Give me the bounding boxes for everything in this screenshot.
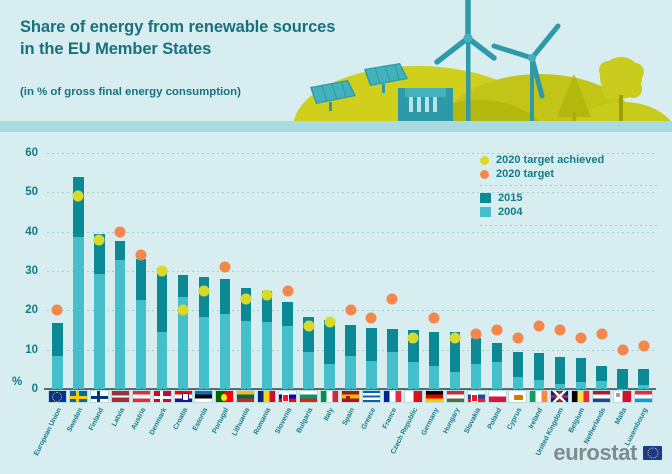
target-dot[interactable] (492, 325, 503, 336)
y-tick-label: 30 (25, 265, 38, 277)
country-label: Italy (323, 407, 335, 422)
y-tick-label: 20 (25, 304, 38, 316)
bar-group[interactable] (471, 338, 481, 389)
target-achieved-dot[interactable] (94, 234, 105, 245)
legend-target-dot-icon (480, 170, 489, 179)
x-axis-item[interactable]: Slovenia (278, 390, 297, 403)
bar-2004 (157, 332, 167, 389)
target-dot[interactable] (512, 332, 523, 343)
legend-item-target: 2020 target (480, 168, 660, 180)
target-dot[interactable] (575, 332, 586, 343)
bar-2004 (324, 364, 334, 389)
bar-2015 (617, 369, 627, 389)
bar-group[interactable] (387, 329, 397, 389)
target-achieved-dot[interactable] (408, 332, 419, 343)
legend-2004-label: 2004 (498, 206, 522, 218)
x-axis-item[interactable]: Germany (425, 390, 444, 403)
x-axis-item[interactable]: Belgium (571, 390, 590, 403)
eu-flag-icon (643, 446, 662, 460)
bar-2004 (450, 372, 460, 389)
bar-2004 (492, 362, 502, 389)
flag-icon-at (132, 390, 151, 403)
bar-group[interactable] (492, 343, 502, 389)
country-label: Poland (486, 407, 503, 430)
country-label: Latvia (111, 407, 126, 428)
bar-2004 (387, 352, 397, 389)
bar-group[interactable] (534, 353, 544, 389)
flag-icon-ee (194, 390, 213, 403)
flag-icon-es (341, 390, 360, 403)
chart-legend: 2020 target achieved 2020 target 2015 20… (480, 154, 660, 226)
bar-2004 (220, 314, 230, 390)
x-axis-item[interactable]: Estonia (194, 390, 213, 403)
hydroelectric-dam-icon (398, 88, 453, 121)
bar-group[interactable] (262, 291, 272, 389)
legend-item-target-achieved: 2020 target achieved (480, 154, 660, 166)
legend-item-2015: 2015 (480, 192, 660, 204)
target-dot[interactable] (429, 313, 440, 324)
country-label: Finland (88, 407, 105, 432)
country-label: Lithuania (232, 407, 252, 437)
country-label: Austria (130, 407, 147, 431)
x-axis-item[interactable]: Poland (488, 390, 507, 403)
bar-2004 (262, 322, 272, 389)
flag-icon-ro (257, 390, 276, 403)
flag-icon-hr (174, 390, 193, 403)
flag-icon-lv (111, 390, 130, 403)
header-divider-band (0, 121, 672, 132)
flag-icon-pl (488, 390, 507, 403)
flag-icon-si (278, 390, 297, 403)
flag-icon-pt (215, 390, 234, 403)
country-label: Slovenia (274, 407, 293, 435)
bar-2004 (115, 260, 125, 389)
bar-group[interactable] (282, 302, 292, 389)
flag-icon-hu (446, 390, 465, 403)
legend-divider (480, 185, 660, 186)
union-jack-overlay (551, 391, 568, 402)
target-dot[interactable] (617, 344, 628, 355)
x-axis-item[interactable]: Czech Republic (404, 390, 423, 403)
flag-cross (154, 396, 171, 399)
coat-of-arms (282, 394, 289, 402)
croatia-emblem (182, 393, 189, 401)
bar-group[interactable] (115, 241, 125, 389)
target-achieved-dot[interactable] (240, 293, 251, 304)
infographic-page: Share of energy from renewable sources i… (0, 0, 672, 474)
flag-icon-mt (613, 390, 632, 403)
eu-stars (52, 392, 62, 402)
bar-2004 (282, 326, 292, 389)
country-label: France (382, 407, 398, 430)
page-title: Share of energy from renewable sources i… (20, 17, 350, 61)
flag-icon-bg (299, 390, 318, 403)
x-axis-item[interactable]: Hungary (446, 390, 465, 403)
bar-group[interactable] (324, 320, 334, 389)
country-label: Slovakia (463, 407, 482, 435)
y-axis-labels: 0102030405060 (0, 132, 47, 394)
x-axis-item[interactable]: Austria (132, 390, 151, 403)
bar-2004 (136, 300, 146, 389)
target-dot[interactable] (533, 321, 544, 332)
target-achieved-dot[interactable] (303, 321, 314, 332)
page-subtitle: (in % of gross final energy consumption) (20, 86, 350, 98)
legend-2015-label: 2015 (498, 192, 522, 204)
bar-2004 (73, 237, 83, 389)
bar-2004 (408, 362, 418, 389)
x-axis-item[interactable]: Luxembourg (634, 390, 653, 403)
malta-cross (616, 393, 620, 397)
legend-2015-swatch-icon (480, 193, 491, 203)
x-axis-item[interactable]: Italy (320, 390, 339, 403)
legend-divider-bottom (480, 225, 660, 226)
bar-2004 (366, 361, 376, 389)
x-axis-item[interactable]: European Union (48, 390, 67, 403)
x-axis-item[interactable]: Slovakia (467, 390, 486, 403)
flag-icon-be (571, 390, 590, 403)
x-axis-item[interactable]: Malta (613, 390, 632, 403)
bar-group[interactable] (345, 325, 355, 389)
target-dot[interactable] (345, 305, 356, 316)
bar-group[interactable] (52, 323, 62, 389)
target-achieved-dot[interactable] (450, 332, 461, 343)
x-axis-item[interactable]: France (383, 390, 402, 403)
bar-group[interactable] (157, 268, 167, 389)
flag-icon-lu (634, 390, 653, 403)
bar-group[interactable] (576, 358, 586, 389)
legend-achieved-label: 2020 target achieved (496, 154, 604, 166)
x-axis-item[interactable]: Croatia (174, 390, 193, 403)
country-label: Ireland (528, 407, 544, 430)
target-achieved-dot[interactable] (178, 305, 189, 316)
legend-achieved-dot-icon (480, 156, 489, 165)
flag-icon-nl (592, 390, 611, 403)
flag-icon-ie (529, 390, 548, 403)
flag-icon-sk (467, 390, 486, 403)
bar-group[interactable] (94, 234, 104, 389)
flag-icon-dk (153, 390, 172, 403)
flag-icon-lt (236, 390, 255, 403)
target-dot[interactable] (115, 226, 126, 237)
flag-icon-se (69, 390, 88, 403)
target-dot[interactable] (136, 250, 147, 261)
bar-2004 (241, 321, 251, 389)
title-line-2: in the EU Member States (20, 39, 350, 61)
country-label: Sweden (66, 407, 84, 433)
x-axis-item[interactable]: Denmark (153, 390, 172, 403)
country-label: Cyprus (507, 407, 524, 431)
flag-icon-it (320, 390, 339, 403)
y-tick-label: 0 (32, 383, 38, 395)
bar-2004 (52, 356, 62, 389)
target-dot[interactable] (471, 328, 482, 339)
flag-cross (91, 396, 108, 399)
target-achieved-dot[interactable] (157, 266, 168, 277)
cyprus-map (514, 395, 523, 400)
bar-group[interactable] (555, 357, 565, 389)
flag-icon-de (425, 390, 444, 403)
x-axis-item[interactable]: Finland (90, 390, 109, 403)
country-label: Estonia (192, 407, 209, 432)
bar-2004 (94, 274, 104, 389)
bar-2004 (345, 356, 355, 389)
bar-2004 (303, 352, 313, 389)
x-axis-item[interactable]: Spain (341, 390, 360, 403)
title-line-1: Share of energy from renewable sources (20, 17, 350, 39)
x-axis-item[interactable]: United Kingdom (550, 390, 569, 403)
bar-group[interactable] (617, 369, 627, 389)
country-label: Bulgaria (296, 407, 315, 434)
flag-icon-cy (508, 390, 527, 403)
target-achieved-dot[interactable] (73, 191, 84, 202)
y-axis-title: % (12, 376, 22, 388)
header: Share of energy from renewable sources i… (0, 0, 672, 121)
eurostat-logo: eurostat (553, 440, 662, 466)
bar-2004 (199, 317, 209, 389)
y-tick-label: 40 (25, 226, 38, 238)
bar-group[interactable] (638, 369, 648, 389)
country-label: Romania (253, 407, 272, 436)
country-label: Belgium (568, 407, 586, 434)
bar-2004 (429, 366, 439, 389)
bar-2004 (471, 364, 481, 389)
y-tick-label: 60 (25, 147, 38, 159)
target-dot[interactable] (596, 328, 607, 339)
x-axis-item[interactable]: Lithuania (236, 390, 255, 403)
x-axis-item[interactable]: Portugal (215, 390, 234, 403)
eurostat-logo-text: eurostat (553, 440, 637, 466)
bar-group[interactable] (429, 332, 439, 389)
flag-cross (70, 396, 87, 399)
flag-icon-cz (404, 390, 423, 403)
portugal-emblem (221, 394, 227, 401)
bar-group[interactable] (136, 259, 146, 389)
bar-group[interactable] (596, 366, 606, 389)
coat-of-arms (471, 394, 478, 402)
bar-group[interactable] (513, 352, 523, 389)
country-label: Croatia (172, 407, 189, 431)
y-tick-label: 10 (25, 344, 38, 356)
bar-group[interactable] (73, 177, 83, 389)
target-dot[interactable] (282, 285, 293, 296)
x-axis-item[interactable]: Ireland (529, 390, 548, 403)
x-axis-item[interactable]: Latvia (111, 390, 130, 403)
x-axis-item[interactable]: Sweden (69, 390, 88, 403)
target-dot[interactable] (387, 293, 398, 304)
target-dot[interactable] (554, 325, 565, 336)
x-axis-item[interactable]: Cyprus (508, 390, 527, 403)
spain-emblem (346, 396, 350, 400)
bar-group[interactable] (220, 279, 230, 389)
flag-icon-eu (48, 390, 67, 403)
flag-icon-uk (550, 390, 569, 403)
target-dot[interactable] (52, 305, 63, 316)
target-dot[interactable] (219, 262, 230, 273)
target-achieved-dot[interactable] (198, 285, 209, 296)
country-label: Denmark (148, 407, 168, 436)
x-axis-item[interactable]: Netherlands (592, 390, 611, 403)
country-label: Germany (420, 407, 440, 437)
flag-icon-fr (383, 390, 402, 403)
country-label: Malta (614, 407, 628, 426)
legend-2004-swatch-icon (480, 207, 491, 217)
legend-item-2004: 2004 (480, 206, 660, 218)
x-axis-item[interactable]: Bulgaria (299, 390, 318, 403)
country-label: Greece (360, 407, 377, 431)
country-label: Portugal (212, 407, 231, 435)
target-dot[interactable] (366, 313, 377, 324)
target-achieved-dot[interactable] (261, 289, 272, 300)
bar-group[interactable] (178, 275, 188, 389)
flag-icon-fi (90, 390, 109, 403)
target-achieved-dot[interactable] (324, 317, 335, 328)
target-dot[interactable] (638, 340, 649, 351)
country-label: Hungary (442, 407, 461, 435)
legend-target-label: 2020 target (496, 168, 554, 180)
x-axis-item[interactable]: Greece (362, 390, 381, 403)
y-tick-label: 50 (25, 186, 38, 198)
x-axis-item[interactable]: Romania (257, 390, 276, 403)
country-label: Spain (342, 407, 357, 427)
flag-icon-gr (362, 390, 381, 403)
bar-group[interactable] (366, 328, 376, 389)
